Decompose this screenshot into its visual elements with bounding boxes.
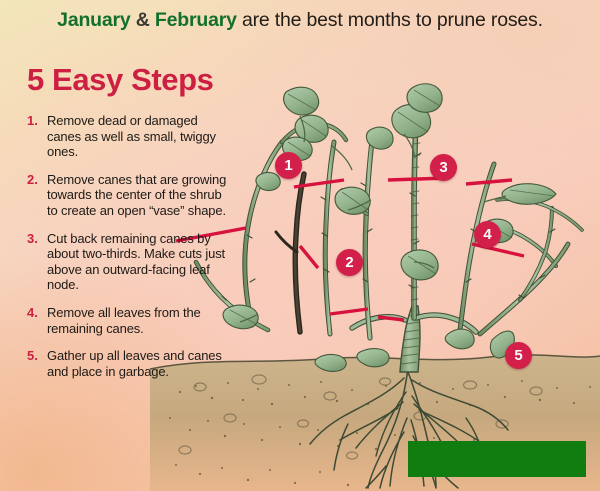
header-title: January & February are the best months t… [0, 9, 600, 32]
step-marker-2: 2 [336, 249, 363, 276]
list-item: 5. Gather up all leaves and canes and pl… [27, 348, 232, 379]
list-item: 2. Remove canes that are growing towards… [27, 172, 232, 219]
step-text: Remove dead or damaged canes as well as … [47, 113, 232, 160]
step-marker-1: 1 [275, 152, 302, 179]
page-title: 5 Easy Steps [27, 62, 213, 98]
leaves [223, 84, 556, 372]
green-banner [408, 441, 586, 477]
list-item: 1. Remove dead or damaged canes as well … [27, 113, 232, 160]
step-number: 2. [27, 172, 47, 188]
step-text: Gather up all leaves and canes and place… [47, 348, 232, 379]
step-number: 4. [27, 305, 47, 321]
step-number: 5. [27, 348, 47, 364]
header-band: January & February are the best months t… [0, 0, 600, 44]
step-text: Cut back remaining canes by about two-th… [47, 231, 232, 293]
infographic-poster: January & February are the best months t… [0, 0, 600, 491]
step-text: Remove canes that are growing towards th… [47, 172, 232, 219]
header-rest: are the best months to prune roses. [237, 9, 543, 31]
ampersand: & [136, 9, 150, 31]
step-number: 1. [27, 113, 47, 129]
steps-list: 1. Remove dead or damaged canes as well … [27, 113, 232, 391]
thorns [222, 153, 555, 300]
bush-crown [352, 306, 476, 372]
month-february: February [155, 9, 237, 31]
list-item: 3. Cut back remaining canes by about two… [27, 231, 232, 293]
step-marker-4: 4 [474, 221, 501, 248]
step-text: Remove all leaves from the remaining can… [47, 305, 232, 336]
step-marker-3: 3 [430, 154, 457, 181]
list-item: 4. Remove all leaves from the remaining … [27, 305, 232, 336]
canes [196, 116, 582, 338]
step-number: 3. [27, 231, 47, 247]
step-marker-5: 5 [505, 342, 532, 369]
month-january: January [57, 9, 130, 31]
